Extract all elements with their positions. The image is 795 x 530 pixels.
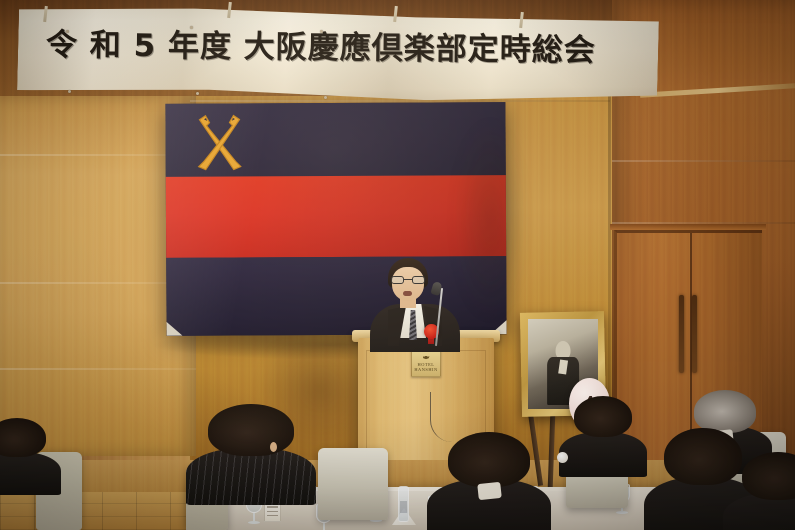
banner-grommet: [68, 90, 71, 93]
audience-hair: [574, 396, 632, 437]
audience-hair: [208, 404, 294, 456]
speaker-mouth: [403, 291, 412, 296]
audience-shirt-collar: [477, 482, 501, 500]
audience-member-left-edge: [0, 418, 46, 488]
water-bottle: [398, 486, 409, 522]
audience-hair: [742, 452, 795, 500]
wall-seam: [0, 368, 196, 370]
menu-card-line: [267, 515, 278, 516]
audience-member-behind-sign: [574, 396, 632, 470]
audience-member-far-right: [742, 452, 795, 530]
eyeglass-lens-right: [412, 276, 425, 284]
eyeglasses-icon: [391, 276, 425, 284]
audience-hair: [664, 428, 742, 485]
banner-title-text: 令 和 5 年度 大阪慶應倶楽部定時総会: [46, 19, 622, 70]
photo-scene: 令 和 5 年度 大阪慶應倶楽部定時総会: [0, 0, 795, 530]
audience-suit: [0, 452, 61, 495]
banner-grommet: [324, 96, 327, 99]
bottle-label: [400, 501, 407, 513]
banner-grommet: [448, 35, 451, 38]
banner-grommet: [190, 26, 193, 29]
audience-hair: [448, 432, 530, 487]
audience-suit: [559, 432, 647, 478]
banner-grommet: [66, 30, 69, 33]
audience-member-front-center: [448, 432, 530, 530]
plaque-line-2: HANSHIN: [414, 367, 437, 372]
banquet-chair[interactable]: [318, 448, 388, 520]
white-boutonniere: [557, 452, 568, 463]
glass-foot: [616, 511, 628, 514]
audience-ear: [270, 442, 277, 452]
eyeglass-bridge: [404, 279, 412, 280]
menu-card-line: [267, 506, 278, 507]
speaker-person: [370, 258, 460, 350]
glass-stem: [323, 523, 325, 530]
audience-hair-gray: [694, 390, 756, 433]
banner-grommet: [320, 30, 323, 33]
hotel-crest-icon: [423, 356, 430, 361]
glass-stem: [253, 513, 255, 521]
crossed-pens-icon: [189, 113, 249, 171]
menu-card-line: [267, 511, 278, 512]
audience-suit-pinstripe: [186, 448, 317, 505]
glass-foot: [248, 521, 260, 524]
wall-cast-shadow-secondary: [455, 120, 525, 320]
door-handle-left[interactable]: [679, 295, 684, 373]
eyeglass-lens-left: [391, 276, 404, 284]
hotel-plaque: HOTEL HANSHIN: [411, 350, 441, 377]
audience-member-front-left: [208, 404, 294, 496]
wall-seam-horizontal: [612, 160, 795, 162]
door-handle-right[interactable]: [692, 295, 697, 373]
banner-grommet: [196, 92, 199, 95]
audience-hair: [0, 418, 46, 457]
